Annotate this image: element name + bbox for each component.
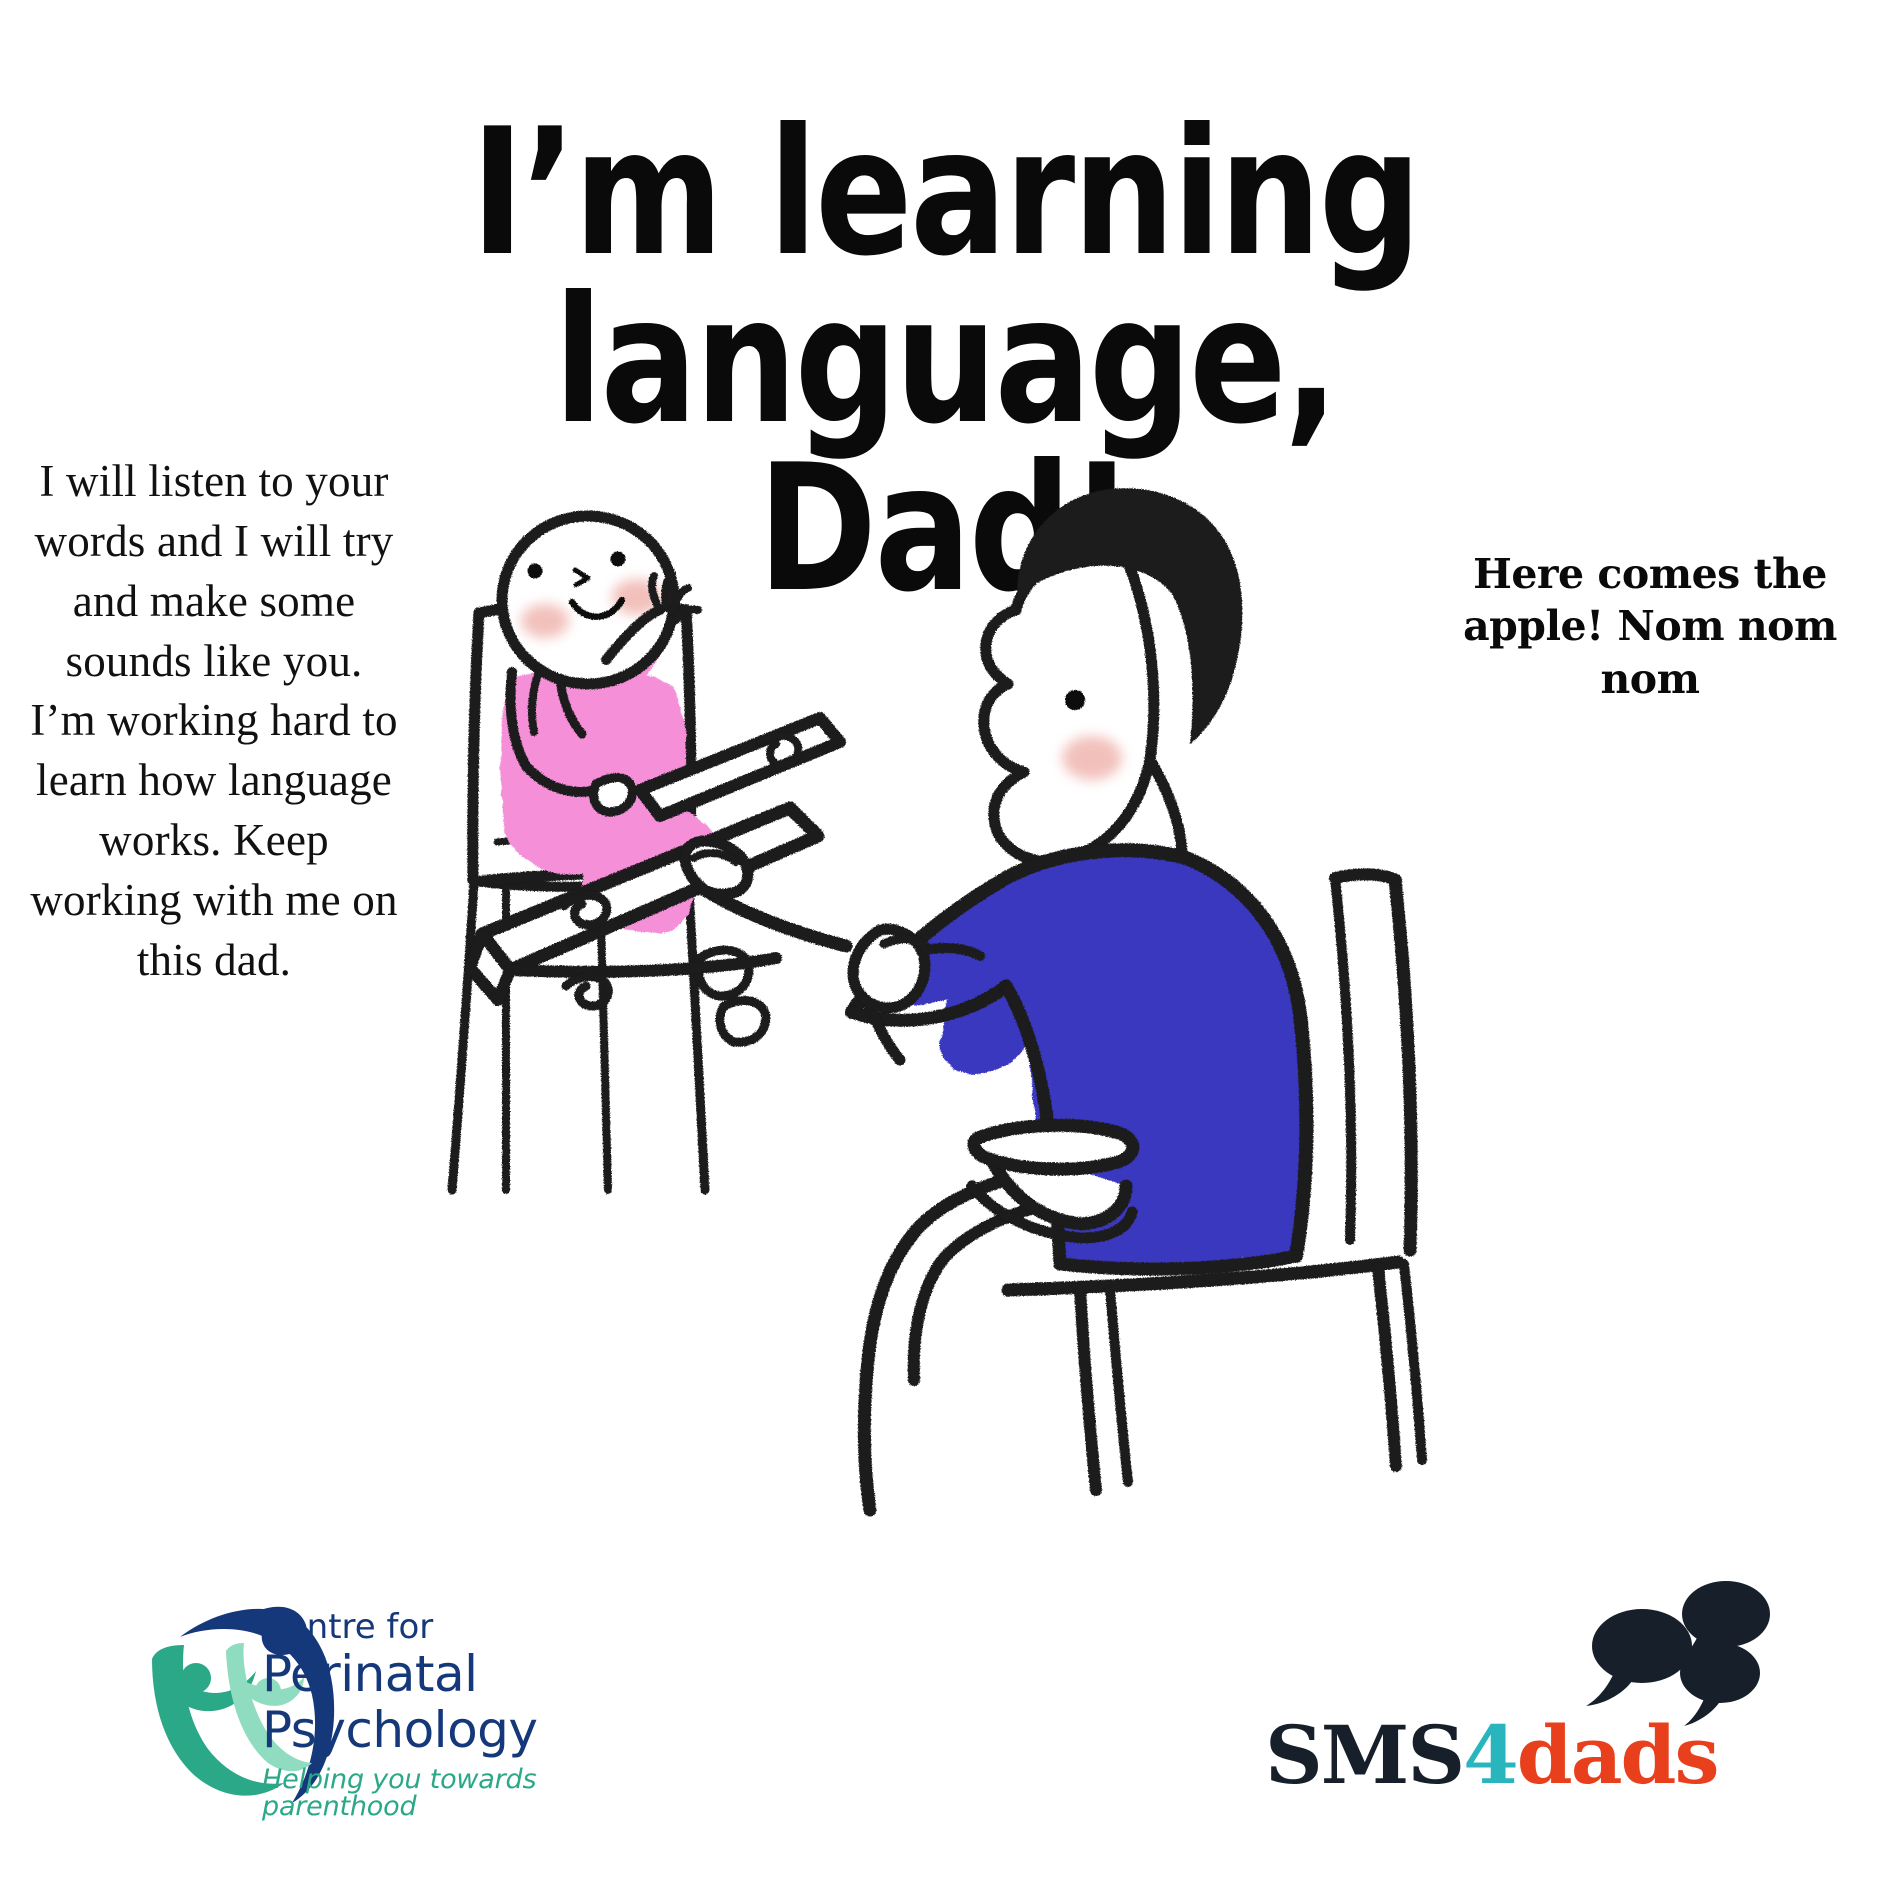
cpp-logo-wordmark: Centre for Perinatal Psychology Helping … (262, 1610, 692, 1820)
page-title-line-1: I’m learning language, (170, 110, 1720, 446)
dad-hand-with-spoon (685, 841, 980, 1008)
sms4dads-part-sms: SMS (1265, 1708, 1463, 1802)
dad-chair (1008, 874, 1422, 1490)
sms4dads-part-four: 4 (1463, 1708, 1517, 1802)
dad-message-text: Here comes the apple! Nom nom nom (1440, 548, 1860, 705)
dad-shirt (866, 853, 1305, 1266)
bowl (972, 1125, 1133, 1238)
cpp-line-2: Perinatal Psychology (262, 1646, 692, 1758)
poster-canvas: I’m learning language, Dad! I will liste… (0, 0, 1890, 1890)
baby-outfit (501, 619, 717, 932)
sms4dads-logo: SMS4dads (1265, 1600, 1745, 1830)
baby-feet (698, 950, 766, 1042)
cpp-tagline: Helping you towards parenthood (262, 1766, 692, 1820)
speech-bubbles-icon (1580, 1578, 1780, 1728)
cpp-line-1: Centre for (262, 1610, 692, 1644)
sms4dads-part-dads: dads (1517, 1708, 1718, 1802)
table (864, 1172, 1052, 1510)
sms4dads-wordmark: SMS4dads (1265, 1708, 1718, 1802)
dad-shirt-outline (852, 850, 1306, 1269)
highchair (452, 603, 705, 1190)
page-title: I’m learning language, Dad! (170, 110, 1720, 614)
baby-message-text: I will listen to your words and I will t… (28, 452, 400, 991)
highchair-tray (470, 718, 840, 1006)
